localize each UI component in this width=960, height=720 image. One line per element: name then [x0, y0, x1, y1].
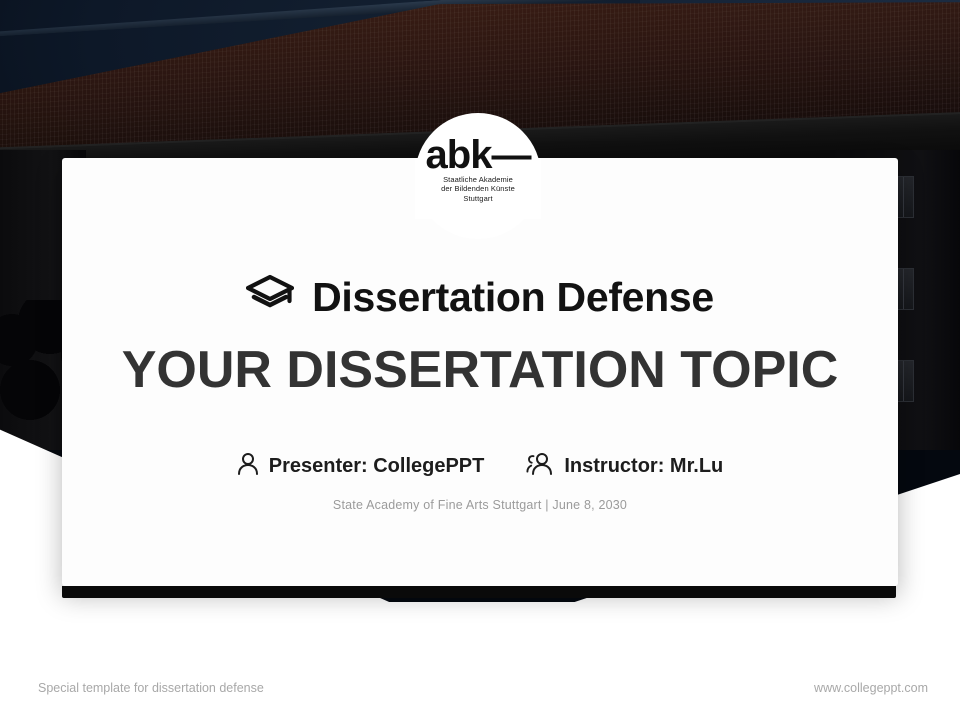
slide-title: Dissertation Defense: [312, 274, 714, 321]
presentation-slide: abk— Staatliche Akademie der Bildenden K…: [0, 0, 960, 720]
dissertation-topic: YOUR DISSERTATION TOPIC: [62, 340, 898, 400]
people-row: Presenter: CollegePPT Instructor: Mr.Lu: [62, 452, 898, 481]
logo-subtitle-line-2: der Bildenden Künste: [415, 184, 541, 193]
title-row: Dissertation Defense: [62, 274, 898, 321]
graduation-cap-icon: [246, 274, 294, 321]
instructor-item: Instructor: Mr.Lu: [526, 452, 723, 481]
logo-subtitle: Staatliche Akademie der Bildenden Künste…: [415, 175, 541, 203]
footer-background: [0, 602, 960, 720]
university-logo: abk— Staatliche Akademie der Bildenden K…: [415, 113, 541, 219]
logo-subtitle-line-1: Staatliche Akademie: [415, 175, 541, 184]
people-group-icon: [526, 452, 554, 481]
slide-meta: State Academy of Fine Arts Stuttgart | J…: [62, 498, 898, 512]
logo-wordmark: abk—: [415, 135, 541, 175]
logo-subtitle-line-3: Stuttgart: [415, 194, 541, 203]
person-icon: [237, 452, 259, 481]
instructor-label: Instructor: Mr.Lu: [564, 455, 723, 478]
footer-website[interactable]: www.collegeppt.com: [814, 681, 928, 695]
footer-left-text: Special template for dissertation defens…: [38, 681, 264, 695]
presenter-label: Presenter: CollegePPT: [269, 455, 485, 478]
card-accent-bar: [62, 586, 896, 598]
presenter-item: Presenter: CollegePPT: [237, 452, 485, 481]
